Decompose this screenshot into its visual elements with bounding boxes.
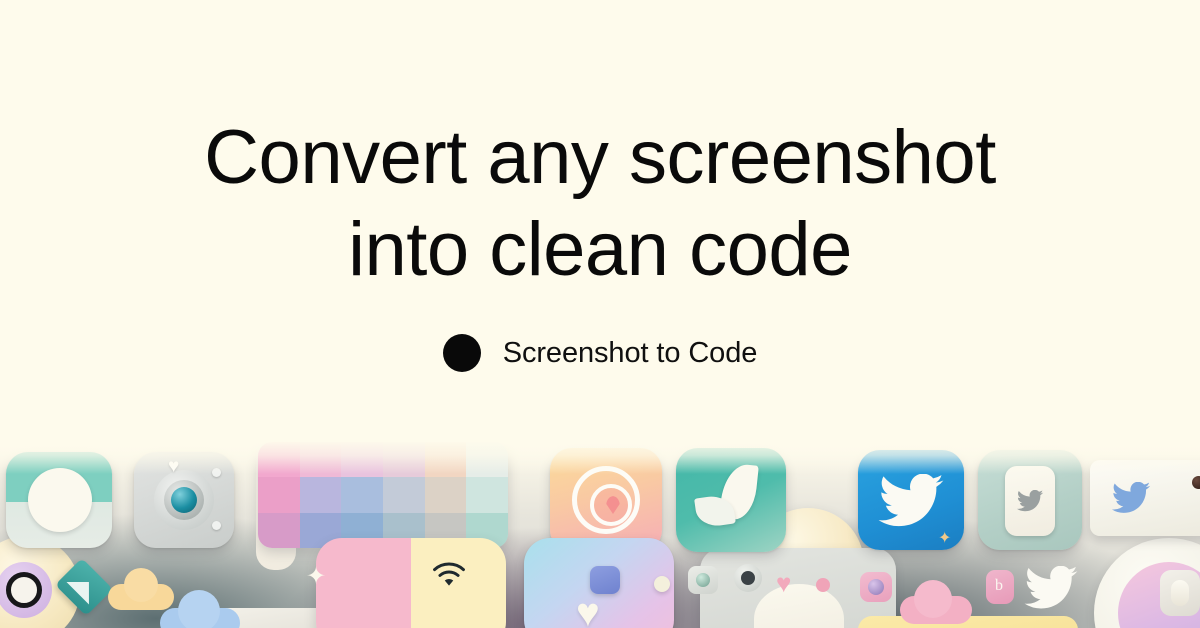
dark-dot-icon	[1192, 476, 1200, 489]
small-camera-icon	[688, 566, 718, 594]
camera-lens-icon	[171, 487, 197, 513]
grey-circle-icon	[734, 564, 762, 592]
headline-line-1: Convert any screenshot	[204, 115, 996, 200]
pin-ring-outer-icon	[572, 466, 640, 534]
small-grey-tile	[1160, 570, 1200, 616]
cloud-icon-pink	[900, 580, 972, 624]
heart-icon-large: ♥	[576, 591, 600, 628]
blue-bird-icon	[1110, 482, 1152, 514]
brand-logo-circle-icon	[443, 334, 481, 372]
twitter-bird-icon	[876, 474, 946, 528]
blue-square-icon	[590, 566, 620, 594]
camera-ring-inner-icon	[164, 480, 204, 520]
map-pin-icon	[606, 496, 620, 514]
wifi-icon	[432, 562, 466, 588]
camera-ring-outer-icon	[154, 470, 214, 530]
grey-bird-icon	[1016, 490, 1044, 512]
sparkle-icon: ✦	[306, 562, 326, 591]
white-card	[1005, 466, 1055, 536]
pink-app-icon	[860, 572, 892, 602]
og-card: Convert any screenshot into clean code S…	[0, 0, 1200, 628]
sparkle-icon-small: ✦	[938, 528, 951, 548]
app-icon-collage-strip: ♥	[0, 440, 1200, 628]
split-color-tile	[316, 538, 506, 628]
headline-line-2: into clean code	[204, 204, 996, 296]
heart-icon-pink: ♥	[776, 568, 791, 599]
camera-flash-icon-2	[212, 521, 221, 530]
cream-dot-icon	[654, 576, 670, 592]
pink-dot-icon	[816, 578, 830, 592]
brand-name: Screenshot to Code	[503, 337, 758, 370]
pin-ring-inner-icon	[590, 484, 632, 526]
brand-row: Screenshot to Code	[443, 334, 758, 372]
page-title: Convert any screenshot into clean code	[204, 112, 996, 296]
pink-b-icon: b	[986, 570, 1014, 604]
cloud-icon-blue	[160, 590, 240, 628]
strip-top-fade	[0, 440, 1200, 474]
white-bird-icon	[1022, 566, 1080, 610]
hero-text-block: Convert any screenshot into clean code S…	[0, 0, 1200, 442]
white-circle-knob-icon	[28, 468, 92, 532]
